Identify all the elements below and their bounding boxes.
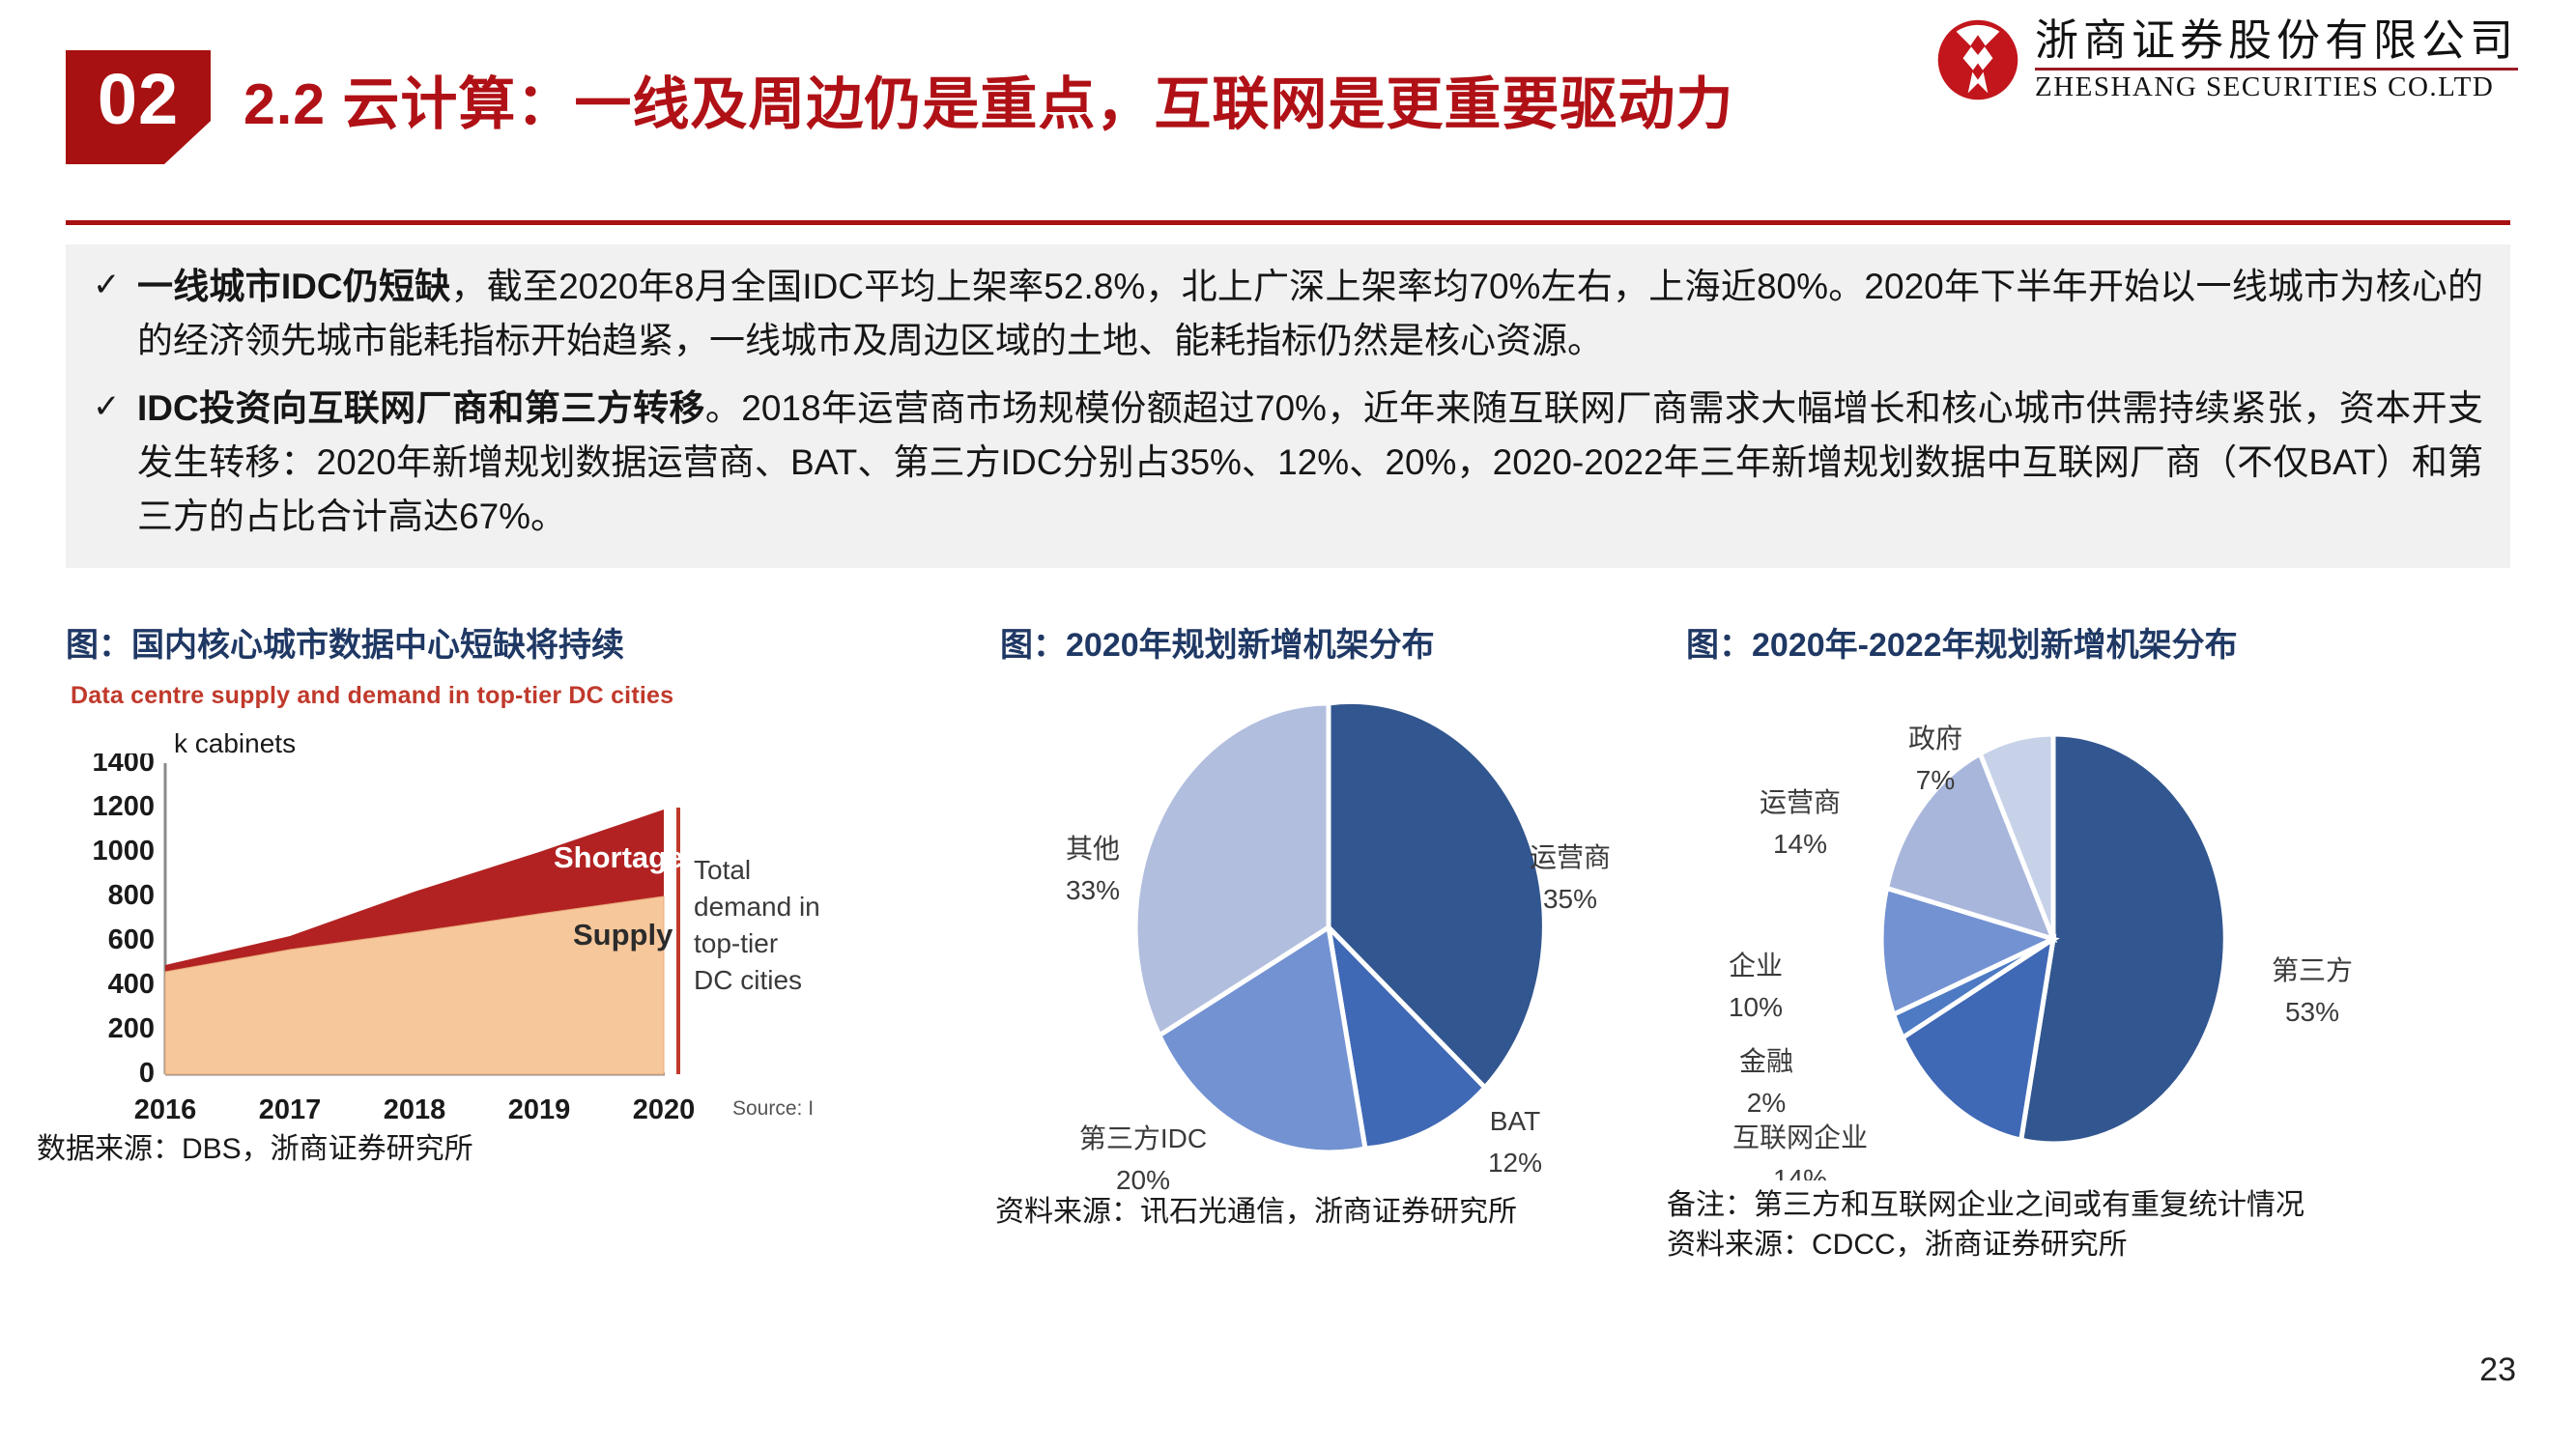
pie-label-internet: 互联网企业 [1732, 1122, 1868, 1152]
company-name-cn: 浙商证券股份有限公司 [2035, 17, 2518, 65]
y-tick-1400: 1400 [92, 753, 155, 778]
bullet-text-1: 一线城市IDC仍短缺，截至2020年8月全国IDC平均上架率52.8%，北上广深… [137, 260, 2497, 368]
section-number: 02 [98, 50, 179, 135]
pie-value-internet: 14% [1773, 1164, 1827, 1180]
chart1-plot: 1400 1200 1000 800 600 400 200 0 Shortag… [66, 753, 935, 1140]
pie-value-finance: 2% [1747, 1088, 1786, 1118]
pie-value-operator: 35% [1543, 884, 1597, 914]
pie-value-bat: 12% [1488, 1148, 1542, 1178]
label-shortage: Shortage [554, 840, 683, 874]
x-tick-2020: 2020 [633, 1094, 696, 1125]
annotation-total-demand-l2: demand in [694, 892, 820, 922]
pie-label-third-party: 第三方IDC [1079, 1123, 1207, 1153]
pie-label-operator: 运营商 [1760, 787, 1841, 817]
bullet-text-2: IDC投资向互联网厂商和第三方转移。2018年运营商市场规模份额超过70%，近年… [137, 382, 2497, 545]
pie-value-enterprise: 10% [1729, 992, 1783, 1022]
label-supply: Supply [573, 918, 673, 952]
page-number: 23 [2479, 1351, 2516, 1389]
check-icon: ✓ [87, 382, 137, 433]
pie-label-bat: BAT [1490, 1106, 1540, 1136]
pie-label-third-party: 第三方 [2272, 955, 2353, 985]
chart-2020-2022-rack-distribution: 图：2020年-2022年规划新增机架分布 第三方 53% 互联网企业 14% … [1686, 618, 2517, 1236]
pie-value-third-party: 53% [2285, 997, 2339, 1027]
x-tick-2018: 2018 [384, 1094, 446, 1125]
bullet-item-2: ✓ IDC投资向互联网厂商和第三方转移。2018年运营商市场规模份额超过70%，… [87, 382, 2497, 545]
zheshang-logo-icon [1936, 18, 2019, 101]
x-tick-2016: 2016 [134, 1094, 197, 1125]
annotation-total-demand-l1: Total [694, 855, 751, 885]
pie-value-operator: 14% [1773, 829, 1827, 859]
slide-header: 02 2.2 云计算：一线及周边仍是重点，互联网是更重要驱动力 浙商证券股份有限… [0, 0, 2576, 232]
chart1-source: 数据来源：DBS，浙商证券研究所 [37, 1130, 473, 1170]
chart-supply-demand: 图：国内核心城市数据中心短缺将持续 Data centre supply and… [66, 618, 935, 1236]
y-tick-200: 200 [108, 1013, 155, 1044]
logo-separator [2035, 68, 2518, 71]
chart1-inline-source: Source: I [732, 1097, 814, 1120]
pie-label-other: 其他 [1066, 834, 1120, 864]
title-divider [66, 220, 2510, 225]
chart3-plot: 第三方 53% 互联网企业 14% 金融 2% 企业 10% 运营商 14% 政… [1657, 659, 2488, 1180]
y-tick-600: 600 [108, 924, 155, 955]
pie-label-enterprise: 企业 [1729, 951, 1783, 980]
y-tick-1200: 1200 [92, 791, 155, 822]
y-tick-0: 0 [139, 1058, 155, 1089]
y-tick-400: 400 [108, 969, 155, 1000]
bullet-lead-1: 一线城市IDC仍短缺 [137, 267, 450, 306]
chart2-plot: 运营商 35% BAT 12% 第三方IDC 20% 其他 33% [990, 668, 1725, 1190]
chart3-source: 备注：第三方和互联网企业之间或有重复统计情况 资料来源：CDCC，浙商证券研究所 [1667, 1186, 2304, 1264]
section-number-badge: 02 [66, 50, 211, 164]
y-tick-1000: 1000 [92, 836, 155, 867]
chart2-source: 资料来源：讯石光通信，浙商证券研究所 [995, 1193, 1517, 1233]
chart1-subtitle: Data centre supply and demand in top-tie… [71, 682, 673, 710]
pie-label-operator: 运营商 [1530, 842, 1611, 872]
annotation-total-demand-l3: top-tier [694, 928, 778, 958]
x-tick-2017: 2017 [259, 1094, 322, 1125]
company-logo: 浙商证券股份有限公司 ZHESHANG SECURITIES CO.LTD [1936, 17, 2518, 101]
bullet-body-1: ，截至2020年8月全国IDC平均上架率52.8%，北上广深上架率均70%左右，… [137, 267, 2483, 360]
pie-label-finance: 金融 [1739, 1046, 1793, 1076]
bullet-item-1: ✓ 一线城市IDC仍短缺，截至2020年8月全国IDC平均上架率52.8%，北上… [87, 260, 2497, 368]
pie-value-government: 7% [1916, 765, 1955, 795]
company-name-en: ZHESHANG SECURITIES CO.LTD [2035, 72, 2518, 101]
chart2-title: 图：2020年规划新增机架分布 [1000, 618, 1435, 666]
page-title: 2.2 云计算：一线及周边仍是重点，互联网是更重要驱动力 [243, 58, 1733, 140]
pie-value-other: 33% [1066, 875, 1120, 905]
check-icon: ✓ [87, 260, 137, 311]
chart-2020-rack-distribution: 图：2020年规划新增机架分布 运营商 35% BAT 12% 第三方IDC 2… [1000, 618, 1734, 1236]
pie-label-government: 政府 [1908, 724, 1962, 753]
chart1-title: 图：国内核心城市数据中心短缺将持续 [66, 618, 624, 666]
y-tick-800: 800 [108, 880, 155, 911]
logo-text-block: 浙商证券股份有限公司 ZHESHANG SECURITIES CO.LTD [2035, 17, 2518, 101]
x-tick-2019: 2019 [508, 1094, 571, 1125]
pie-value-third-party: 20% [1116, 1165, 1170, 1190]
annotation-total-demand-l4: DC cities [694, 965, 802, 995]
summary-panel: ✓ 一线城市IDC仍短缺，截至2020年8月全国IDC平均上架率52.8%，北上… [66, 244, 2510, 568]
bullet-lead-2: IDC投资向互联网厂商和第三方转移 [137, 388, 705, 428]
